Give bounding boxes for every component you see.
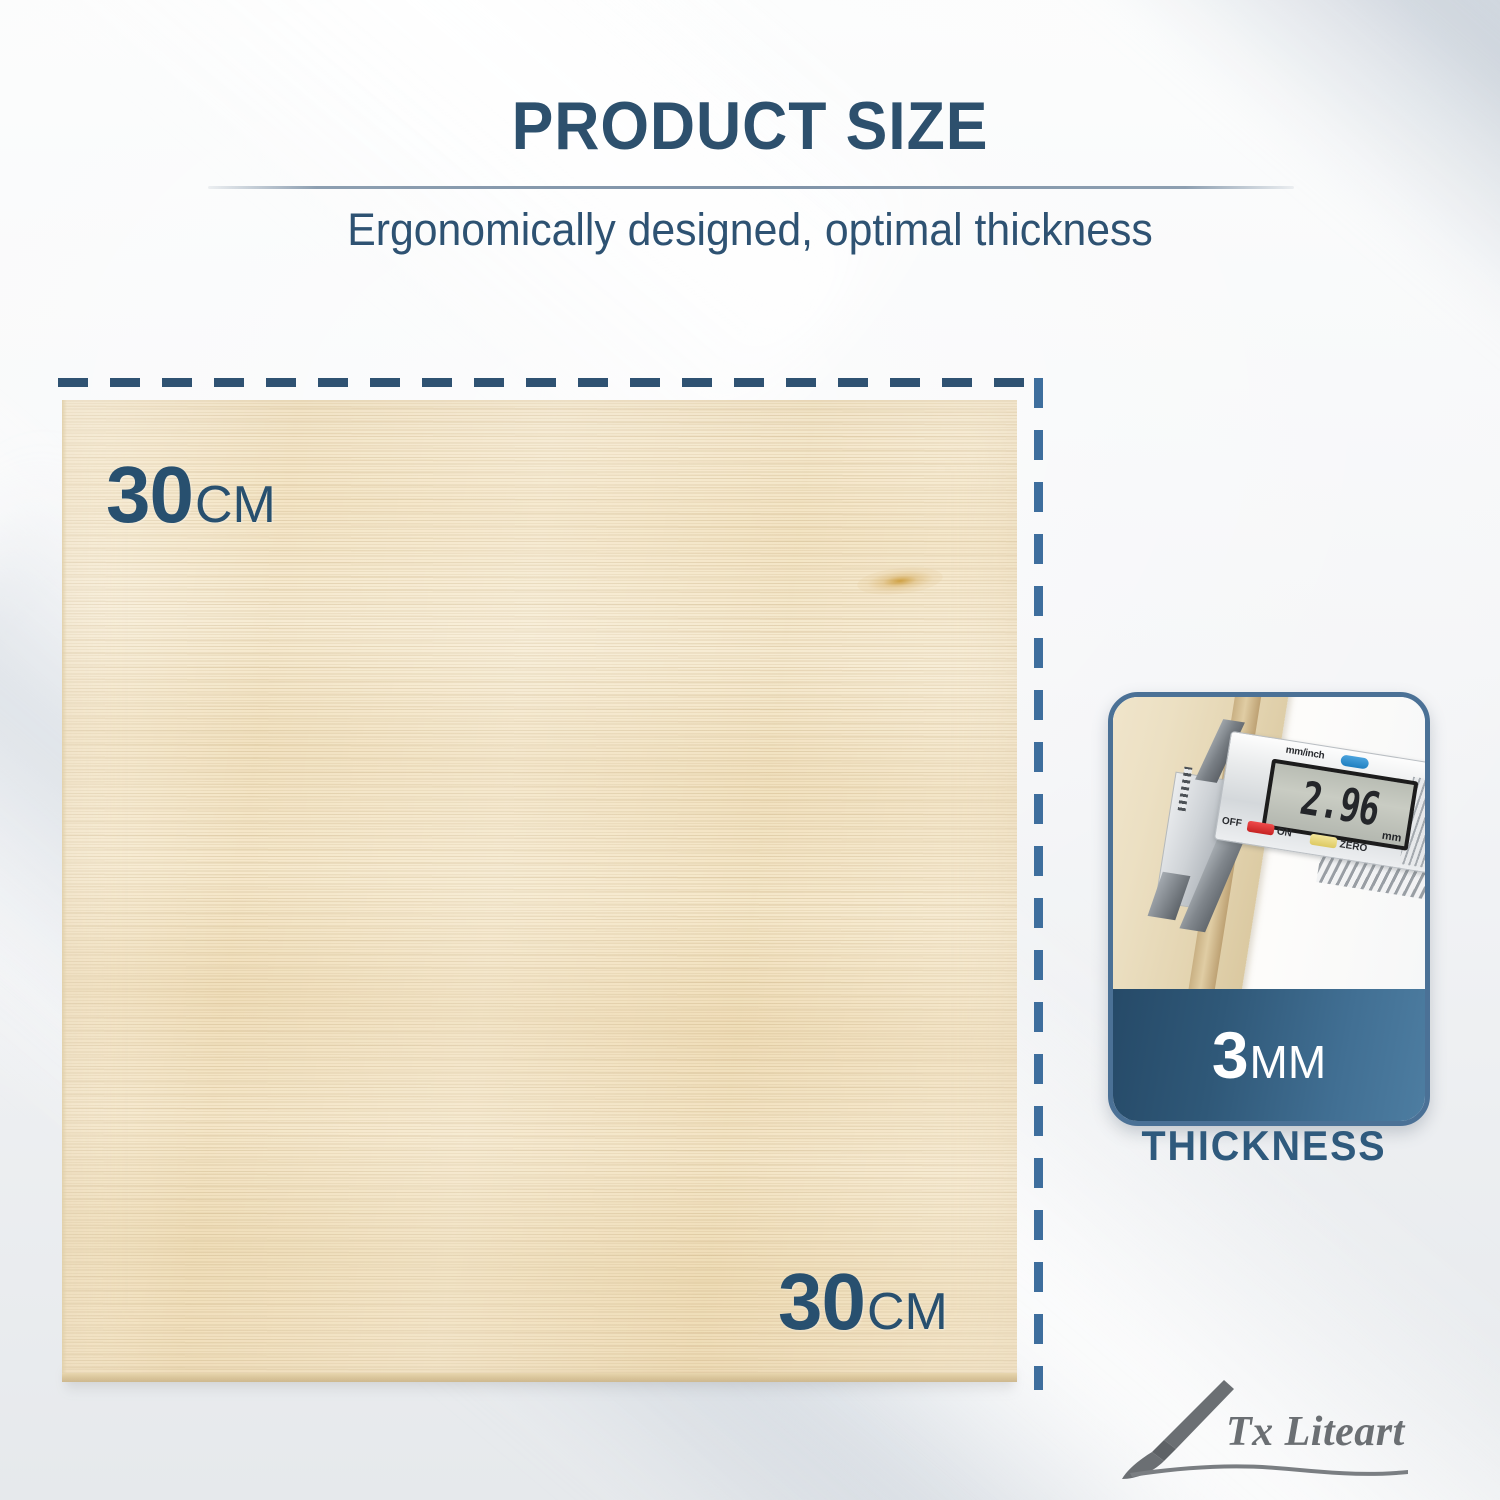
thickness-callout-card: mm/inch 2.96 mm OFF ON ZERO 3MM: [1108, 692, 1430, 1126]
caliper-on-label: ON: [1276, 826, 1293, 839]
page-title: PRODUCT SIZE: [60, 92, 1440, 160]
page-subtitle: Ergonomically designed, optimal thicknes…: [38, 202, 1463, 258]
wood-panel-bottom-edge: [62, 1373, 1017, 1382]
dimension-label-height: 30CM: [778, 1262, 948, 1342]
wood-panel-left-edge: [62, 400, 67, 1382]
thickness-badge: 3MM: [1212, 1022, 1326, 1088]
dimension-label-width: 30CM: [106, 455, 276, 535]
dashed-guide-top: [58, 378, 1043, 387]
brand-logo: Tx Liteart: [1108, 1378, 1448, 1482]
title-divider: [208, 186, 1294, 189]
brand-name: Tx Liteart: [1226, 1408, 1405, 1456]
caliper-mm-inch-label: mm/inch: [1285, 745, 1325, 762]
caliper-off-label: OFF: [1221, 815, 1242, 829]
thickness-caption: THICKNESS: [1117, 1122, 1410, 1170]
thickness-badge-band: 3MM: [1113, 989, 1425, 1121]
caliper-photo: mm/inch 2.96 mm OFF ON ZERO: [1113, 697, 1425, 989]
thickness-unit: MM: [1250, 1036, 1327, 1088]
product-size-infographic: PRODUCT SIZE Ergonomically designed, opt…: [0, 0, 1500, 1500]
thickness-value: 3: [1212, 1018, 1249, 1092]
wood-panel-sheen: [62, 400, 1017, 1382]
caliper-reading-unit: mm: [1381, 830, 1402, 845]
dashed-guide-right: [1034, 378, 1043, 1390]
caliper-reading: 2.96: [1296, 772, 1384, 837]
dimension-value: 30: [778, 1257, 865, 1346]
caliper-mm-inch-button[interactable]: [1340, 754, 1369, 769]
dimension-unit: CM: [867, 1283, 948, 1341]
dimension-unit: CM: [195, 476, 276, 534]
dimension-value: 30: [106, 450, 193, 539]
wood-panel-surface: [62, 400, 1017, 1382]
wood-panel: [62, 400, 1017, 1382]
